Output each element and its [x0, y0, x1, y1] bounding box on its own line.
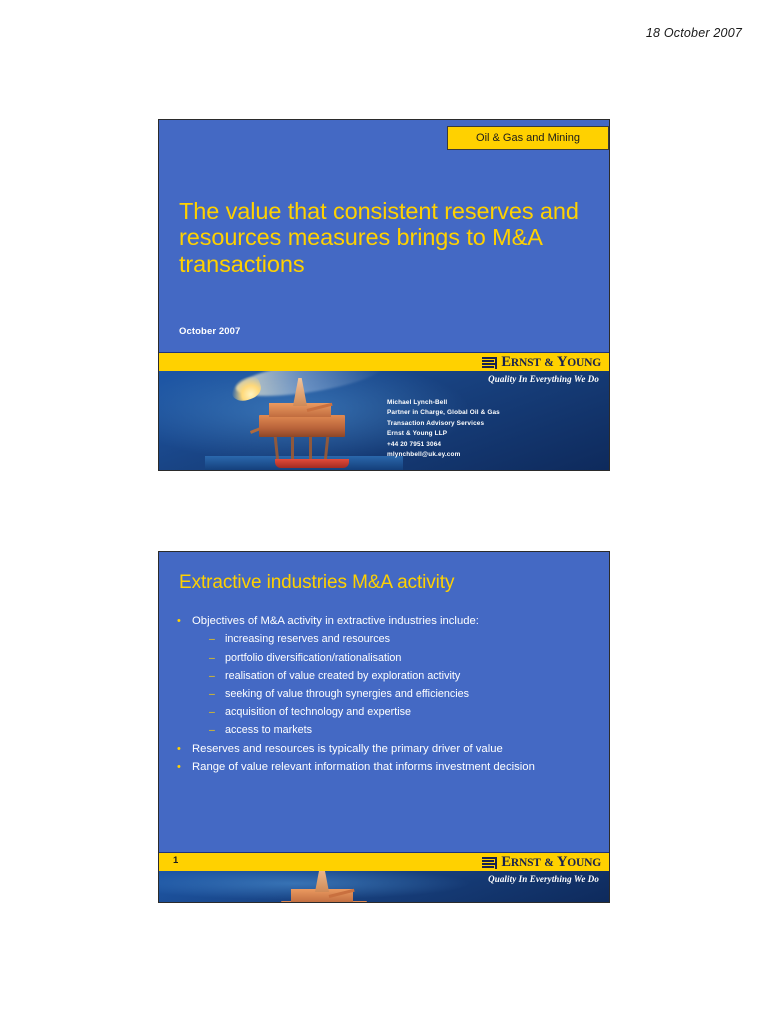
sub-bullet-item: –seeking of value through synergies and …: [177, 689, 595, 700]
bullet-item: •Range of value relevant information tha…: [177, 762, 595, 773]
oil-rig-illustration-footer: [267, 871, 385, 902]
bullet-text: realisation of value created by explorat…: [225, 671, 595, 682]
bullet-text: access to markets: [225, 725, 595, 736]
ey-word-oung: OUNG: [567, 857, 601, 869]
ey-word-rnst: RNST: [511, 857, 541, 869]
contact-role: Partner in Charge, Global Oil & Gas: [387, 408, 500, 418]
ernst-young-logo-footer: ERNST & YOUNG: [482, 855, 601, 870]
ey-word-e: E: [501, 354, 510, 370]
brand-bar: ERNST & YOUNG: [159, 352, 609, 371]
sub-bullet-item: –portfolio diversification/rationalisati…: [177, 653, 595, 664]
contact-details: Michael Lynch-Bell Partner in Charge, Gl…: [387, 398, 500, 460]
bullet-item: •Reserves and resources is typically the…: [177, 744, 595, 755]
slide-heading: Extractive industries M&A activity: [179, 572, 454, 594]
ey-word-y: Y: [557, 354, 567, 370]
contact-department: Transaction Advisory Services: [387, 419, 500, 429]
dash-marker-icon: –: [209, 689, 225, 700]
ey-word-amp: &: [544, 357, 553, 369]
footer-rig-band: Quality In Everything We Do: [159, 871, 609, 902]
dash-marker-icon: –: [209, 653, 225, 664]
ey-word-e: E: [501, 854, 510, 870]
ey-wordmark: ERNST & YOUNG: [501, 355, 601, 370]
ey-word-rnst: RNST: [511, 357, 541, 369]
contact-email: mlynchbell@uk.ey.com: [387, 450, 500, 460]
bullet-item: •Objectives of M&A activity in extractiv…: [177, 616, 595, 627]
footer-brand-bar: 1 ERNST & YOUNG: [159, 852, 609, 871]
ernst-young-logo: ERNST & YOUNG: [482, 355, 601, 370]
bullet-list: •Objectives of M&A activity in extractiv…: [177, 616, 595, 781]
slide-title-page: Oil & Gas and Mining The value that cons…: [158, 119, 610, 471]
bullet-marker-icon: •: [177, 616, 192, 627]
bullet-text: increasing reserves and resources: [225, 634, 595, 645]
brand-tagline: Quality In Everything We Do: [488, 374, 599, 384]
bullet-text: Range of value relevant information that…: [192, 762, 595, 773]
title-block: The value that consistent reserves and r…: [179, 198, 591, 277]
dash-marker-icon: –: [209, 725, 225, 736]
contact-company: Ernst & Young LLP: [387, 429, 500, 439]
dash-marker-icon: –: [209, 671, 225, 682]
page-header-date: 18 October 2007: [646, 26, 742, 40]
slide-number: 1: [173, 856, 178, 866]
bullet-marker-icon: •: [177, 762, 192, 773]
ey-word-oung: OUNG: [567, 357, 601, 369]
bullet-text: Objectives of M&A activity in extractive…: [192, 616, 595, 627]
sub-bullet-item: –acquisition of technology and expertise: [177, 707, 595, 718]
sub-bullet-item: –access to markets: [177, 725, 595, 736]
sector-tab: Oil & Gas and Mining: [447, 126, 609, 150]
ey-beam-icon: [482, 857, 497, 869]
oil-rig-illustration: [245, 374, 363, 470]
sub-bullet-item: –increasing reserves and resources: [177, 634, 595, 645]
rig-photo-band: Quality In Everything We Do Michael Lync…: [159, 371, 609, 470]
bullet-text: acquisition of technology and expertise: [225, 707, 595, 718]
bullet-text: portfolio diversification/rationalisatio…: [225, 653, 595, 664]
ey-word-amp: &: [544, 857, 553, 869]
presentation-date: October 2007: [179, 326, 240, 337]
bullet-text: Reserves and resources is typically the …: [192, 744, 595, 755]
ey-word-y: Y: [557, 854, 567, 870]
ey-beam-icon: [482, 357, 497, 369]
contact-phone: +44 20 7951 3064: [387, 440, 500, 450]
dash-marker-icon: –: [209, 707, 225, 718]
bullet-marker-icon: •: [177, 744, 192, 755]
dash-marker-icon: –: [209, 634, 225, 645]
slide-content-page: Extractive industries M&A activity •Obje…: [158, 551, 610, 903]
sub-bullet-item: –realisation of value created by explora…: [177, 671, 595, 682]
contact-name: Michael Lynch-Bell: [387, 398, 500, 408]
page-title: The value that consistent reserves and r…: [179, 198, 591, 277]
bullet-text: seeking of value through synergies and e…: [225, 689, 595, 700]
ey-wordmark: ERNST & YOUNG: [501, 855, 601, 870]
brand-tagline-footer: Quality In Everything We Do: [488, 874, 599, 884]
